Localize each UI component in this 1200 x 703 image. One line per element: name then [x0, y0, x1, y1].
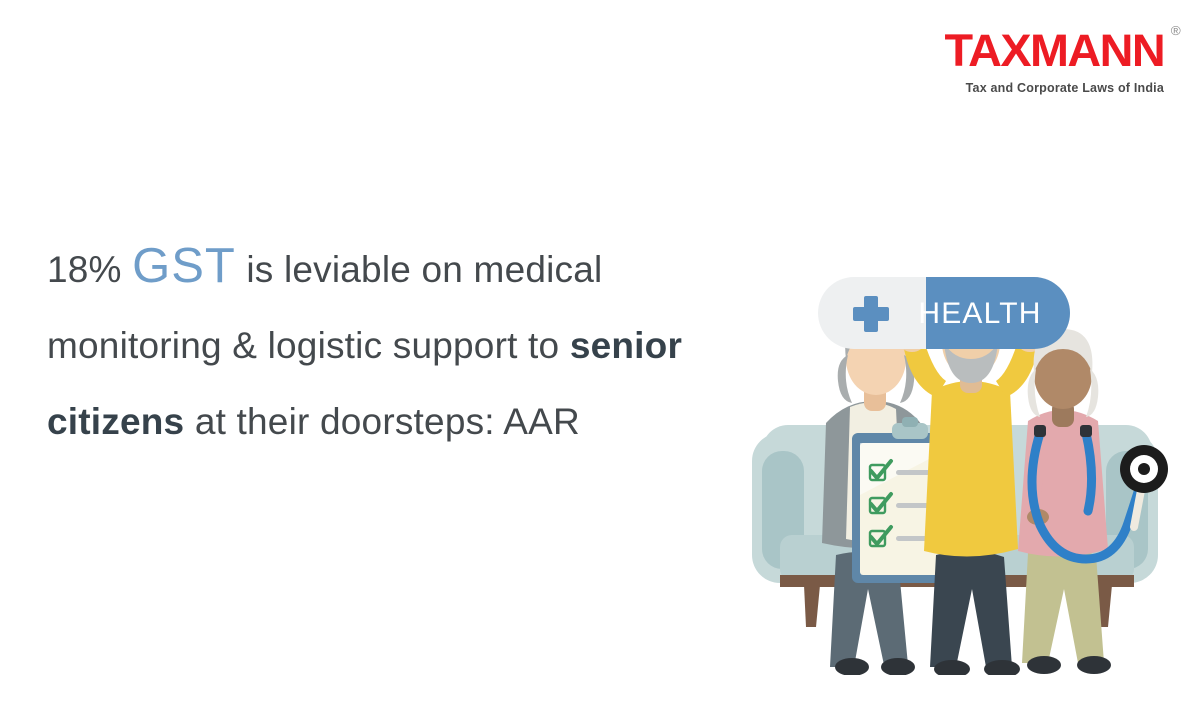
health-sign: HEALTH	[818, 277, 1070, 349]
headline-part-one: is leviable on medical monitoring & logi…	[47, 249, 602, 366]
headline: 18% GST is leviable on medical monitorin…	[47, 228, 767, 460]
brand-wordmark: TAXMANN ®	[944, 28, 1164, 73]
headline-rate: 18%	[47, 249, 122, 290]
registered-trademark-icon: ®	[1171, 24, 1181, 37]
brand-name: TAXMANN	[944, 25, 1164, 76]
health-sign-text: HEALTH	[918, 297, 1041, 330]
headline-tax-accent: GST	[132, 239, 236, 293]
brand-logo: TAXMANN ® Tax and Corporate Laws of Indi…	[953, 28, 1164, 95]
sofa-leg-left	[804, 585, 820, 627]
illustration-seniors-health: HEALTH	[740, 255, 1180, 675]
headline-part-two: at their doorsteps: AAR	[195, 401, 580, 442]
brand-tagline: Tax and Corporate Laws of India	[953, 82, 1164, 95]
